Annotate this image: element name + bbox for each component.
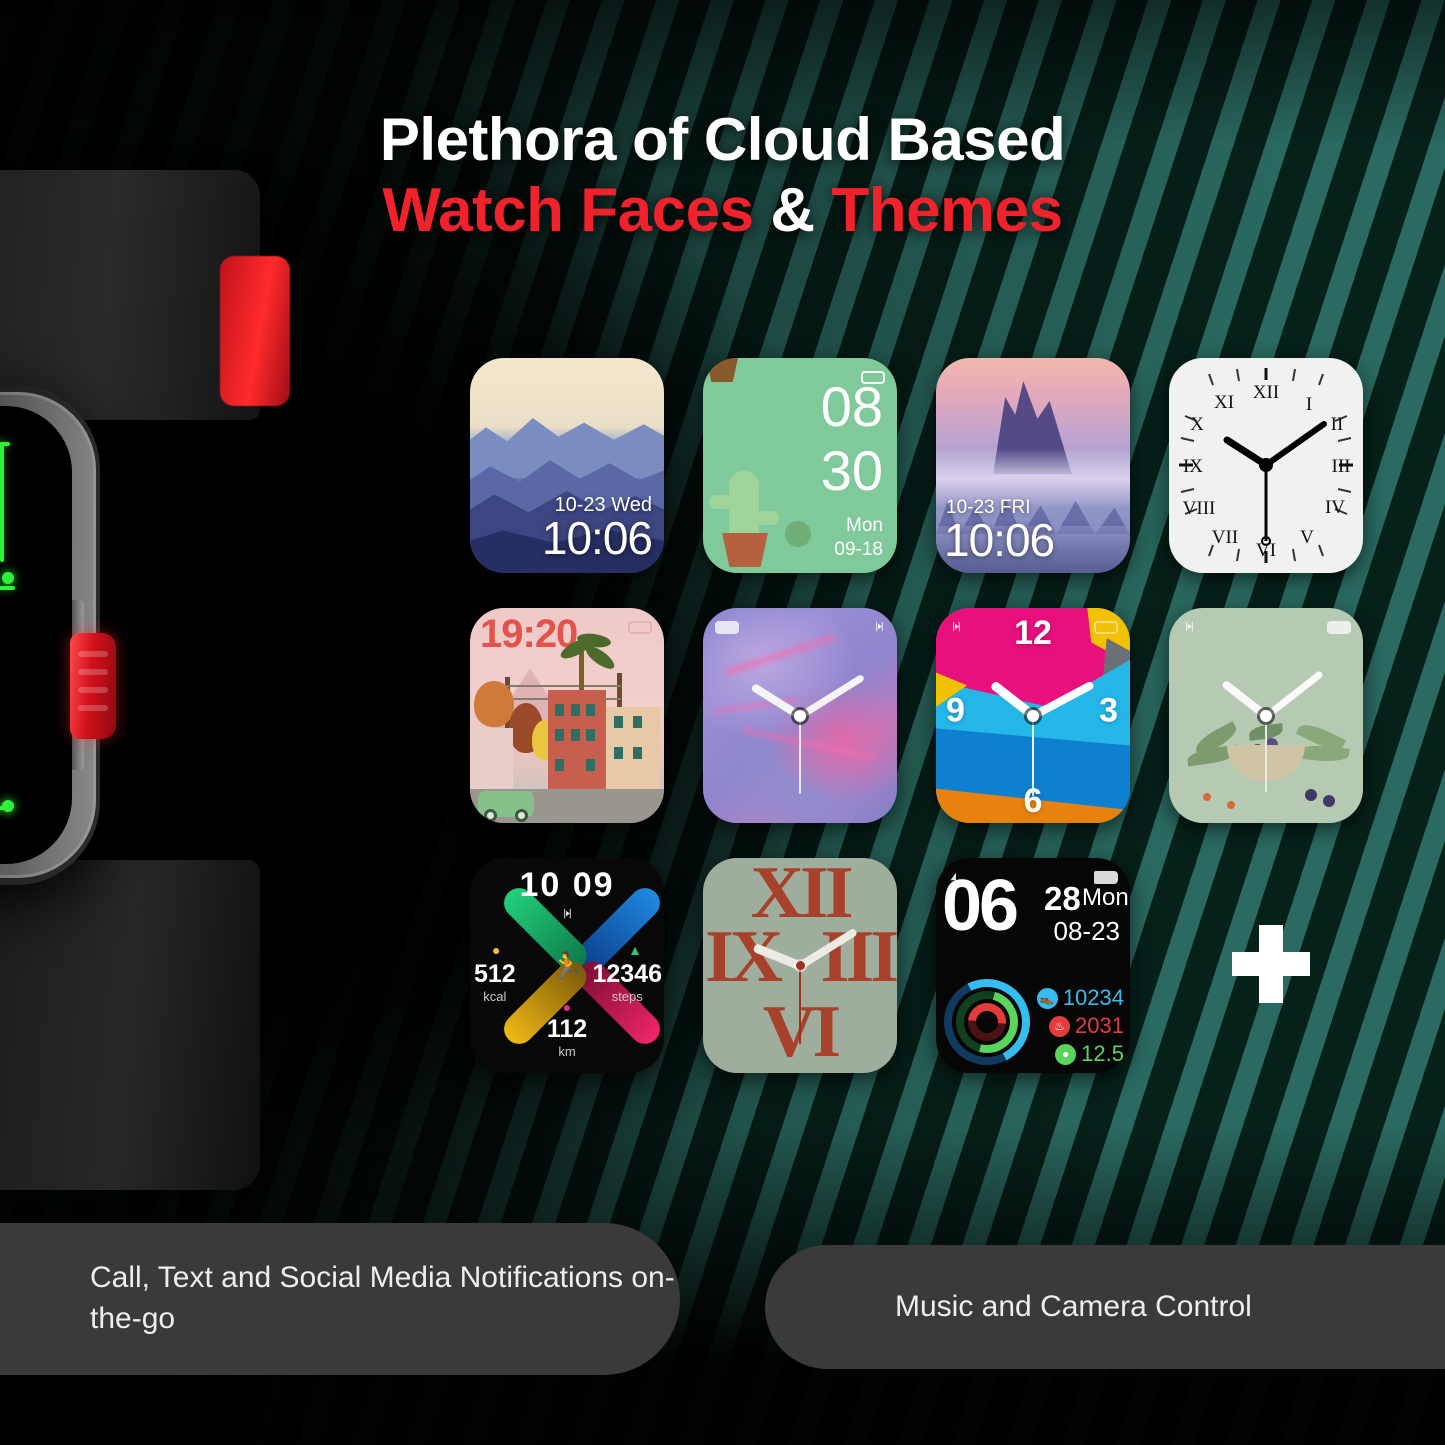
roman-clock-svg: XIIIII IIIIVV VIVIIVIII IXXXI: [1169, 358, 1363, 573]
stat-value: 512: [474, 962, 516, 987]
svg-text:XI: XI: [1214, 392, 1234, 413]
stat-value: 12.5: [1081, 1041, 1124, 1067]
feature-pill-label: Call, Text and Social Media Notification…: [90, 1258, 680, 1340]
stat-value: 10234: [1063, 985, 1124, 1011]
watch-face-sport-x[interactable]: 10 09 🏃 ● ▲ ● 512 kcal 12346 steps 112 k…: [470, 858, 664, 1073]
hud-dot-a: [2, 572, 14, 584]
svg-text:II: II: [1331, 414, 1344, 435]
hud-rail-mid: [0, 586, 15, 590]
steps-icon: 👞: [1037, 988, 1058, 1009]
watch-face-misty-mountain[interactable]: 10-23 FRI 10:06: [936, 358, 1130, 573]
battery-icon: [1094, 621, 1118, 634]
minute-hand: [798, 673, 864, 718]
flame-icon: ●: [492, 942, 500, 958]
watch-strap-red-accent: [220, 256, 290, 406]
stat-unit: steps: [592, 989, 662, 1004]
stat-steps: 👞 10234: [1037, 985, 1124, 1011]
watch-faces-row-1: 10-23 Wed 10:06 08 30 Mon 09-18 10-23 FR…: [470, 358, 1370, 573]
watch-face-botanical[interactable]: [1169, 608, 1363, 823]
numeral-9: 9: [946, 692, 965, 731]
watch-display: ♟ 10 周五 00 0:00 AM ❤ 089 🔥 236: [0, 406, 72, 864]
location-icon: ●: [563, 999, 571, 1015]
pot-large: [719, 533, 771, 567]
face-weekday: Mon: [1082, 884, 1129, 912]
svg-text:VI: VI: [1256, 540, 1276, 561]
watch-crown[interactable]: [70, 633, 116, 739]
second-hand: [799, 966, 801, 1044]
battery-icon: [1094, 871, 1118, 884]
feature-pill-notifications[interactable]: Call, Text and Social Media Notification…: [0, 1223, 680, 1375]
feature-pill-music-camera[interactable]: Music and Camera Control: [765, 1245, 1445, 1369]
svg-text:VII: VII: [1212, 527, 1238, 548]
svg-text:XII: XII: [1253, 382, 1279, 403]
headline-red-a: Watch Faces: [382, 176, 770, 245]
watch-faces-row-2: 19:20: [470, 608, 1370, 823]
car-illustration: [478, 791, 534, 817]
watch-face-roman-analog[interactable]: XIIIII IIIIVV VIVIIVIII IXXXI: [1169, 358, 1363, 573]
face-hour: 08: [821, 380, 883, 434]
stat-calories: 512 kcal: [474, 962, 516, 1004]
watch-strap-bottom: [0, 860, 260, 1190]
numeral-3: III: [821, 920, 895, 994]
cactus-small: [785, 521, 811, 547]
stat-unit: km: [547, 1044, 587, 1059]
watch-face-marble[interactable]: [703, 608, 897, 823]
stat-calories: ♨ 2031: [1049, 1013, 1124, 1039]
svg-text:V: V: [1300, 527, 1314, 548]
watch-face-cactus[interactable]: 08 30 Mon 09-18: [703, 358, 897, 573]
face-time: 10:06: [542, 511, 652, 565]
battery-icon: [1327, 621, 1351, 634]
bluetooth-icon: [871, 619, 887, 634]
activity-rings: [944, 979, 1030, 1065]
headline-line-2: Watch Faces & Themes: [0, 177, 1445, 245]
location-icon: ●: [1055, 1044, 1076, 1065]
watch-face-city[interactable]: 19:20: [470, 608, 664, 823]
stat-value: 112: [547, 1017, 587, 1042]
face-minute: 30: [821, 444, 883, 498]
second-hand: [1032, 716, 1034, 796]
stat-distance: 112 km: [547, 1017, 587, 1059]
bluetooth-icon: [1181, 619, 1197, 634]
svg-text:III: III: [1332, 456, 1351, 477]
headline-line-1: Plethora of Cloud Based: [0, 108, 1445, 173]
face-date: 08-23: [1054, 916, 1121, 947]
hands-pivot: [1260, 710, 1272, 722]
face-time: 10:06: [944, 513, 1054, 567]
feature-pills: Call, Text and Social Media Notification…: [0, 1223, 1445, 1383]
stat-steps: 12346 steps: [592, 962, 662, 1004]
headline-red-b: Themes: [815, 176, 1063, 245]
watch-face-activity-rings[interactable]: 06 28 Mon 08-23 👞 10234 ♨ 2031: [936, 858, 1130, 1073]
face-minute: 28: [1044, 880, 1081, 918]
second-hand: [1265, 716, 1267, 792]
second-hand: [799, 716, 801, 794]
bluetooth-icon: [559, 906, 575, 921]
watch-face-mountains[interactable]: 10-23 Wed 10:06: [470, 358, 664, 573]
numeral-12: 12: [1014, 614, 1052, 653]
product-smartwatch: ♟ 10 周五 00 0:00 AM ❤ 089 🔥 236: [0, 170, 460, 1170]
running-icon: 🏃: [551, 950, 583, 981]
flame-icon: ♨: [1049, 1016, 1070, 1037]
headline: Plethora of Cloud Based Watch Faces & Th…: [0, 108, 1445, 245]
stat-value: 2031: [1075, 1013, 1124, 1039]
feature-pill-label: Music and Camera Control: [895, 1287, 1252, 1328]
promo-banner: Plethora of Cloud Based Watch Faces & Th…: [0, 0, 1445, 1445]
face-time: 10 09: [519, 866, 614, 905]
pot-small: [703, 358, 741, 382]
stat-unit: kcal: [474, 989, 516, 1004]
stat-distance: ● 12.5: [1055, 1041, 1124, 1067]
svg-text:X: X: [1190, 414, 1204, 435]
hands-pivot: [1027, 710, 1039, 722]
watch-hud: ♟ 10 周五 00 0:00 AM ❤ 089 🔥 236: [0, 406, 72, 864]
face-hour: 06: [942, 874, 1016, 939]
svg-text:VIII: VIII: [1183, 498, 1216, 519]
watch-face-color-blocks[interactable]: 12 3 6 9: [936, 608, 1130, 823]
plus-more-icon: [1232, 925, 1310, 1003]
face-date: 09-18: [834, 539, 883, 561]
watch-face-big-roman[interactable]: XII IX III VI: [703, 858, 897, 1073]
hands-pivot: [794, 710, 806, 722]
hud-dot-b: [2, 800, 14, 812]
battery-icon: [715, 621, 739, 634]
minute-hand: [1264, 670, 1323, 719]
hud-rail-right: [0, 442, 4, 562]
svg-text:IV: IV: [1325, 497, 1345, 518]
face-weekday: Mon: [846, 515, 883, 537]
hands-pivot: [796, 961, 805, 970]
battery-icon: [628, 621, 652, 634]
svg-text:IX: IX: [1183, 456, 1203, 477]
stat-value: 12346: [592, 962, 662, 987]
hud-ring-calories: [0, 825, 63, 864]
svg-text:I: I: [1306, 394, 1312, 415]
bluetooth-icon: [948, 619, 964, 634]
headline-ampersand: &: [770, 176, 814, 245]
terrain-icon: ▲: [628, 942, 642, 958]
numeral-3: 3: [1099, 692, 1118, 731]
